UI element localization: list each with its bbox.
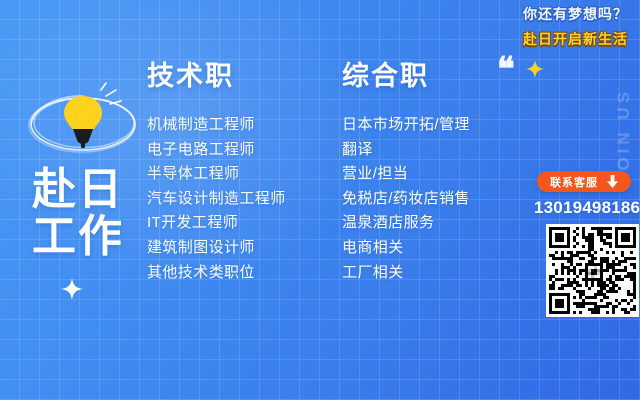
join-us-watermark: JOIN US [614,88,634,184]
job-column-general: 综合职 日本市场开拓/管理 翻译 营业/担当 免税店/药妆店销售 温泉酒店服务 … [342,60,470,285]
lightbulb-icon [22,82,144,162]
column-title-technical: 技术职 [147,60,286,92]
job-list-technical: 机械制造工程师 电子电路工程师 半导体工程师 汽车设计制造工程师 IT开发工程师… [147,113,286,285]
list-item[interactable]: 翻译 [342,138,470,163]
list-item[interactable]: IT开发工程师 [147,211,286,236]
list-item[interactable]: 温泉酒店服务 [342,211,470,236]
sparkle-icon [526,60,544,83]
sparkle-icon [61,278,83,305]
list-item[interactable]: 日本市场开拓/管理 [342,113,470,138]
column-title-general: 综合职 [342,60,470,92]
list-item[interactable]: 电商相关 [342,236,470,261]
qr-code[interactable] [546,224,639,317]
download-arrow-icon [607,175,618,188]
job-list-general: 日本市场开拓/管理 翻译 营业/担当 免税店/药妆店销售 温泉酒店服务 电商相关… [342,113,470,285]
contact-support-button[interactable]: 联系客服 [537,171,631,192]
list-item[interactable]: 建筑制图设计师 [147,236,286,261]
contact-support-label: 联系客服 [550,174,598,190]
job-column-technical: 技术职 机械制造工程师 电子电路工程师 半导体工程师 汽车设计制造工程师 IT开… [147,60,286,285]
list-item[interactable]: 电子电路工程师 [147,138,286,163]
list-item[interactable]: 机械制造工程师 [147,113,286,138]
quote-mark-icon: ❝ [497,54,513,87]
page-title: 赴日 工作 [32,166,152,260]
list-item[interactable]: 汽车设计制造工程师 [147,187,286,212]
slogan-block: 你还有梦想吗？ 赴日开启新生活 [523,4,628,49]
qr-code-image [549,227,636,314]
list-item[interactable]: 其他技术类职位 [147,261,286,286]
list-item[interactable]: 半导体工程师 [147,162,286,187]
phone-number[interactable]: 13019498186 [534,198,634,218]
list-item[interactable]: 营业/担当 [342,162,470,187]
poster-canvas: 赴日 工作 技术职 机械制造工程师 电子电路工程师 半导体工程师 汽车设计制造工… [0,0,640,400]
slogan-line-1: 你还有梦想吗？ [523,4,628,24]
brand-block: 赴日 工作 [22,82,152,260]
slogan-line-2: 赴日开启新生活 [523,29,628,49]
list-item[interactable]: 工厂相关 [342,261,470,286]
list-item[interactable]: 免税店/药妆店销售 [342,187,470,212]
